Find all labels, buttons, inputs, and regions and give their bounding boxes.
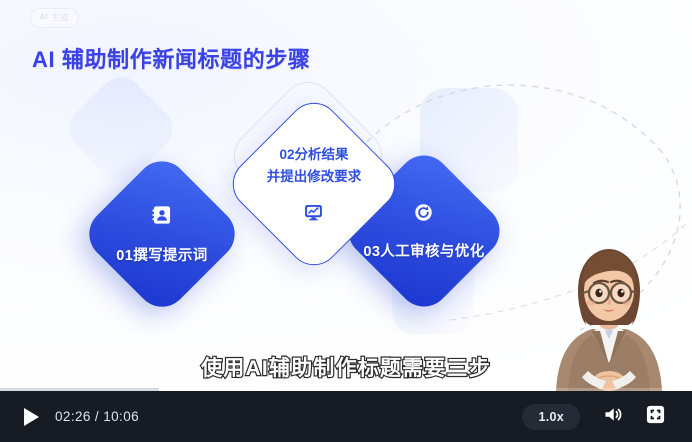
ai-badge-tag: AI bbox=[40, 14, 48, 21]
play-icon[interactable] bbox=[24, 408, 39, 426]
video-player: AI 生成 AI 辅助制作新闻标题的步骤 bbox=[0, 0, 692, 442]
volume-icon[interactable] bbox=[602, 404, 623, 430]
step-card-2-label-line-2: 并提出修改要求 bbox=[267, 166, 362, 188]
playback-speed-button[interactable]: 1.0x bbox=[522, 404, 580, 430]
ai-generated-watermark-badge: AI 生成 bbox=[30, 8, 79, 28]
video-caption-subtitle: 使用AI辅助制作标题需要三步 bbox=[0, 352, 692, 382]
video-canvas[interactable]: AI 生成 AI 辅助制作新闻标题的步骤 bbox=[0, 0, 692, 391]
step-card-1-label: 01撰写提示词 bbox=[116, 244, 207, 265]
time-display: 02:26 / 10:06 bbox=[55, 409, 139, 424]
player-controls: 02:26 / 10:06 1.0x bbox=[0, 391, 692, 442]
monitor-chart-icon bbox=[303, 202, 325, 224]
player-controls-left: 02:26 / 10:06 bbox=[0, 408, 139, 426]
step-card-1[interactable]: 01撰写提示词 bbox=[79, 151, 246, 318]
slide-title: AI 辅助制作新闻标题的步骤 bbox=[32, 42, 311, 74]
step-card-2-label-line-1: 02分析结果 bbox=[279, 144, 348, 166]
fullscreen-icon[interactable] bbox=[645, 404, 666, 430]
refresh-circle-icon bbox=[413, 202, 435, 224]
ai-badge-label: 生成 bbox=[52, 12, 69, 23]
player-controls-right: 1.0x bbox=[522, 404, 692, 430]
step-card-3-label: 03人工审核与优化 bbox=[363, 240, 484, 261]
contact-card-icon bbox=[151, 204, 173, 226]
